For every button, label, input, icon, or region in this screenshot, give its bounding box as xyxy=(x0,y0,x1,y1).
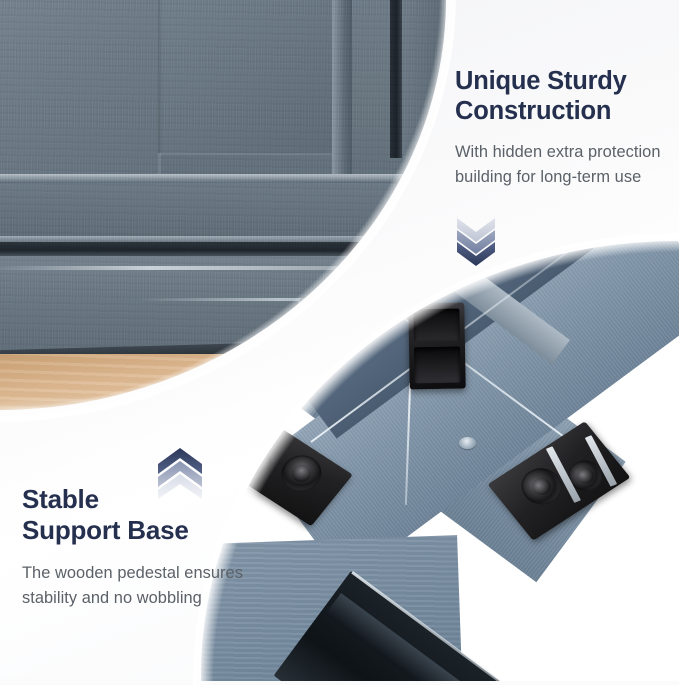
feature-body-stable-support-base: The wooden pedestal ensures stability an… xyxy=(22,561,252,611)
headline-line-1: Unique Sturdy xyxy=(455,66,667,96)
feature-headline-sturdy-construction: Unique Sturdy Construction xyxy=(455,66,667,126)
feature-block-sturdy-construction: Unique Sturdy Construction With hidden e… xyxy=(455,66,667,190)
pedestal-screw-head xyxy=(459,437,476,449)
infographic-canvas: Unique Sturdy Construction With hidden e… xyxy=(0,0,679,679)
bracket-slot-upper xyxy=(413,309,460,342)
bracket-cam-lock-a xyxy=(273,448,329,498)
feature-body-sturdy-construction: With hidden extra protection building fo… xyxy=(455,140,667,190)
corner-bracket-top xyxy=(408,303,465,390)
feature-block-stable-support-base: Stable Support Base The wooden pedestal … xyxy=(22,484,252,611)
headline-line-2: Support Base xyxy=(22,515,252,546)
feature-headline-stable-support-base: Stable Support Base xyxy=(22,484,252,546)
headline-line-2: Construction xyxy=(455,96,667,126)
chevron-up-triple-icon xyxy=(154,447,206,499)
bracket-slot-lower xyxy=(414,347,461,384)
headline-line-1: Stable xyxy=(22,484,252,515)
chevron-down-triple-icon xyxy=(452,217,500,267)
